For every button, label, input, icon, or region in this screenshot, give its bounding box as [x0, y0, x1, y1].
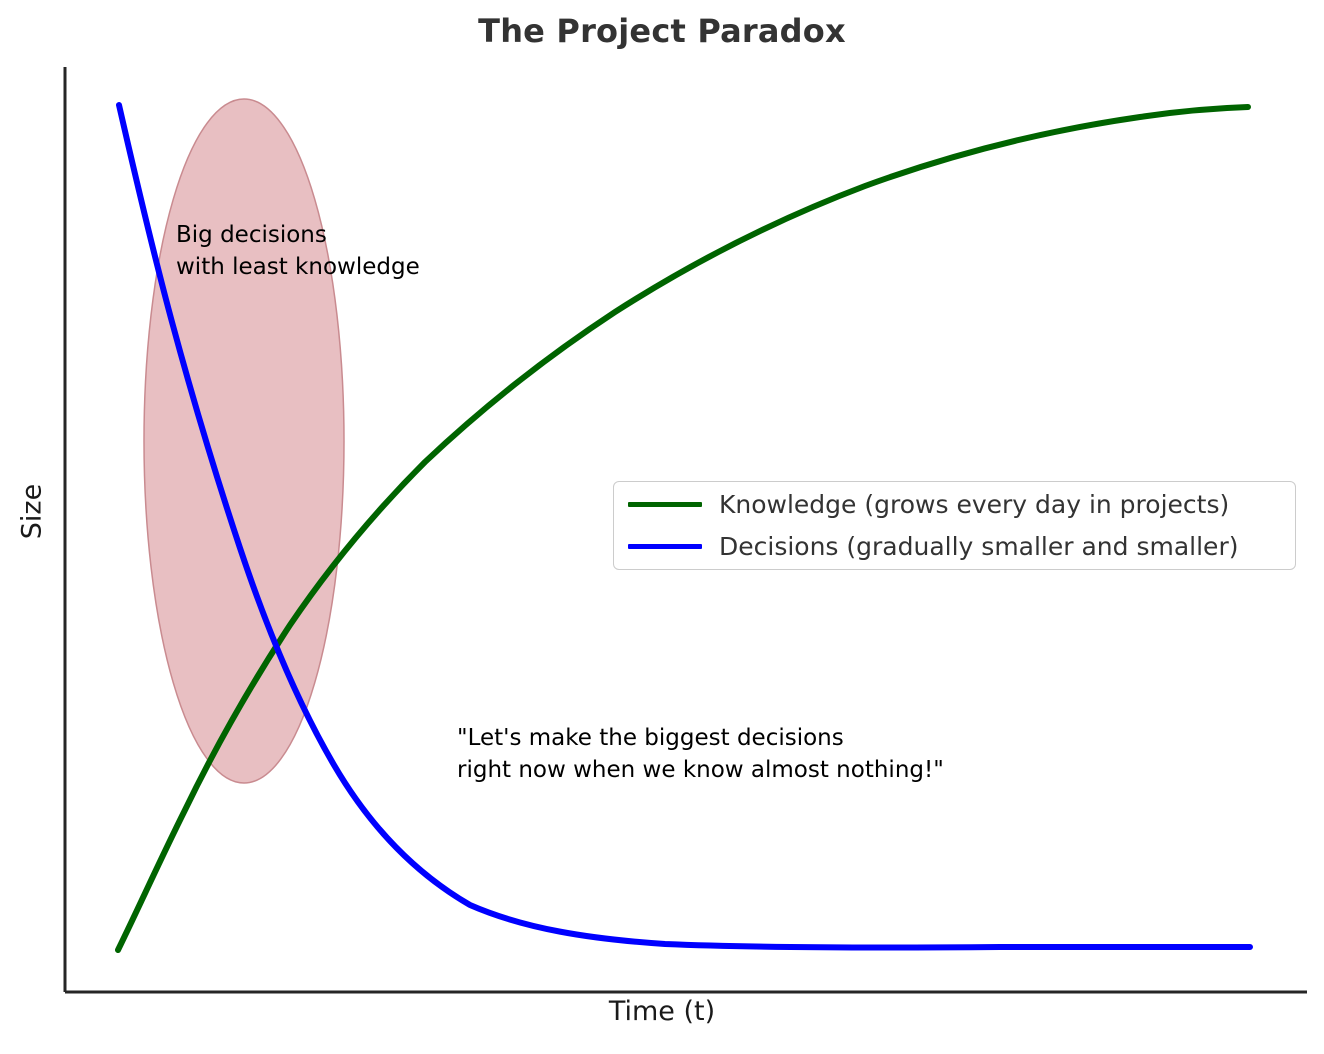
legend-item-knowledge[interactable]: Knowledge (grows every day in projects): [628, 483, 1229, 525]
legend-swatch-decisions: [628, 544, 702, 549]
legend-label-knowledge: Knowledge (grows every day in projects): [719, 490, 1229, 519]
legend-item-decisions[interactable]: Decisions (gradually smaller and smaller…: [628, 525, 1238, 567]
chart-legend: Knowledge (grows every day in projects) …: [613, 481, 1296, 570]
x-axis-label: Time (t): [0, 996, 1324, 1027]
annotation-quote: "Let's make the biggest decisions right …: [457, 723, 944, 786]
chart-figure: The Project Paradox Time (t) Size Big de…: [0, 0, 1324, 1054]
annotation-big-decisions-line1: Big decisions: [176, 222, 327, 248]
legend-label-decisions: Decisions (gradually smaller and smaller…: [719, 532, 1238, 561]
legend-swatch-knowledge: [628, 502, 702, 507]
annotation-big-decisions-line2: with least knowledge: [176, 254, 420, 280]
annotation-quote-line2: right now when we know almost nothing!": [457, 757, 944, 783]
y-axis-label: Size: [17, 462, 48, 562]
annotation-quote-line1: "Let's make the biggest decisions: [457, 725, 844, 751]
highlight-ellipse: [144, 99, 344, 783]
annotation-big-decisions: Big decisions with least knowledge: [176, 220, 420, 283]
